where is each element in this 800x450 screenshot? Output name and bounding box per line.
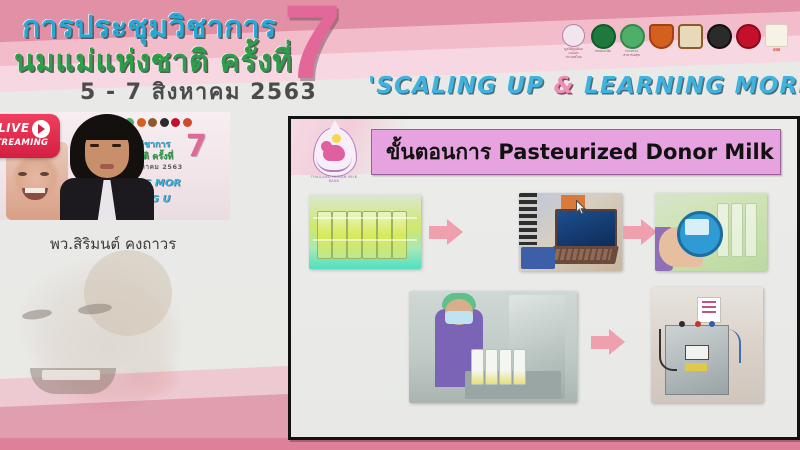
human-milk-bank-logo-caption: THAILAND HUMAN MILK BANK (305, 175, 363, 183)
royal-seal-orange-logo (649, 24, 672, 54)
live-video-panel[interactable]: การประชุมวิชาการ นมแม่แห่งชาติ ครั้งที่ … (0, 112, 230, 220)
flow-arrow-1-icon (429, 219, 463, 245)
presentation-slide-panel: THAILAND HUMAN MILK BANK ขั้นตอนการ Past… (288, 116, 800, 440)
edition-number: 7 (283, 0, 341, 95)
thaihealth-sss-logo: สสส (765, 24, 788, 54)
photo-laptop-workstation (519, 193, 622, 271)
thai-breastfeeding-foundation-logo: มูลนิธิศูนย์นมแม่แห่งประเทศไทย (562, 24, 585, 54)
live-label: LIVE (0, 121, 30, 135)
slide-canvas: THAILAND HUMAN MILK BANK ขั้นตอนการ Past… (291, 119, 797, 437)
watermark-teeth (42, 370, 100, 380)
organization-logo-strip: มูลนิธิศูนย์นมแม่แห่งประเทศไทย กรมอนามัย… (562, 24, 788, 54)
slide-title: ขั้นตอนการ Pasteurized Donor Milk (386, 136, 774, 169)
photo-nurse-laminar-hood (409, 291, 577, 403)
royal-emblem-logo (678, 24, 701, 54)
tagline-suffix: LEARNING MORE' (575, 73, 800, 99)
flow-arrow-2-icon (623, 219, 657, 245)
play-triangle-icon (38, 124, 45, 134)
photo-milk-bottles-rack (309, 195, 421, 269)
slide-screenshot: การประชุมวิชาการ นมแม่แห่งชาติ ครั้งที่ … (0, 0, 800, 450)
speaker-figure (52, 112, 162, 220)
photo-temperature-probe (655, 193, 767, 271)
streaming-label: STREAMING (0, 138, 48, 148)
red-institute-logo (736, 24, 759, 54)
human-milk-bank-logo: THAILAND HUMAN MILK BANK (305, 125, 363, 187)
garuda-black-logo (707, 24, 730, 54)
photo-pasteurizer-machine (651, 287, 763, 403)
ministry-green-circle-logo: กรมอนามัย (591, 24, 614, 54)
flow-arrow-3-icon (591, 329, 625, 355)
conference-tagline: 'SCALING UP & LEARNING MORE' (368, 73, 800, 99)
conference-date: 5 - 7 สิงหาคม 2563 (80, 74, 317, 109)
health-department-logo: กระทรวงสาธารณสุข (620, 24, 643, 54)
tagline-ampersand: & (554, 73, 575, 99)
watermark-hat (84, 250, 172, 336)
mouse-cursor-icon (576, 200, 587, 216)
live-streaming-badge: LIVE STREAMING (0, 114, 60, 158)
tagline-prefix: 'SCALING UP (368, 73, 554, 99)
slide-title-band: ขั้นตอนการ Pasteurized Donor Milk (371, 129, 781, 175)
speaker-name: พว.สิริมนต์ คงถาวร (50, 232, 176, 256)
backdrop-edition-number: 7 (186, 132, 207, 162)
